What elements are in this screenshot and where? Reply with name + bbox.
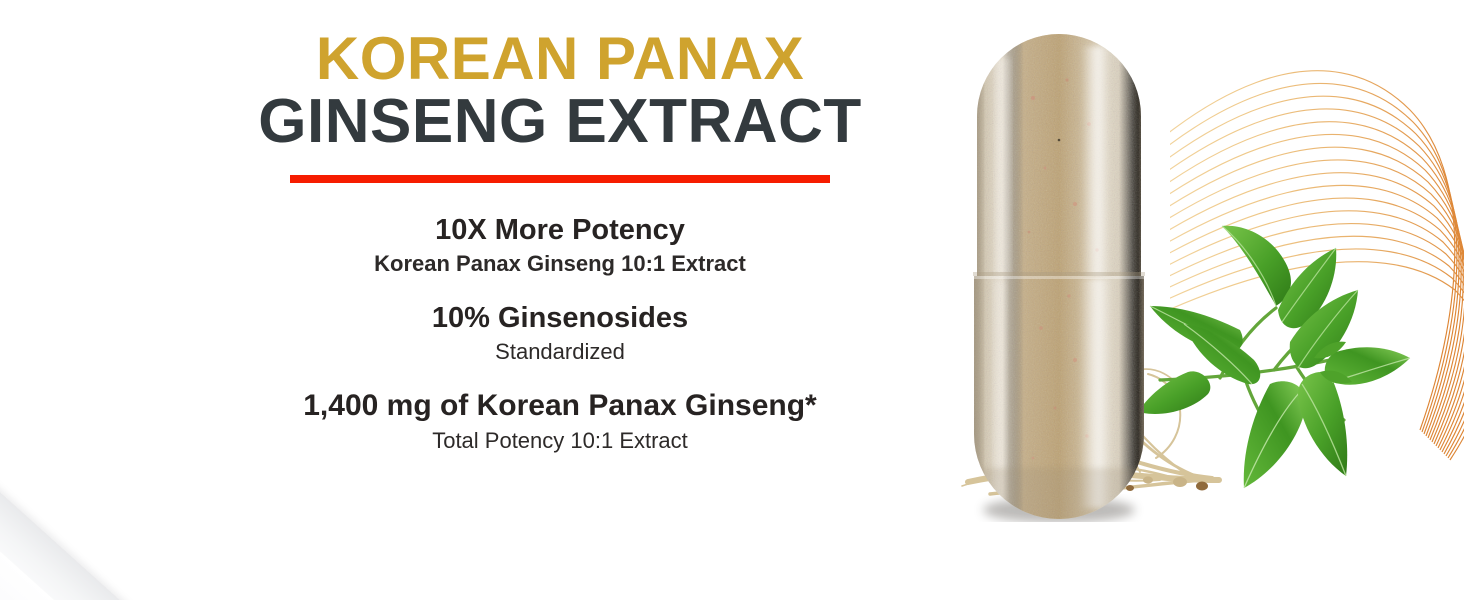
- headline-line-1: KOREAN PANAX: [150, 30, 970, 89]
- claim-heading: 10X More Potency: [150, 213, 970, 247]
- ginseng-leaves: [1124, 210, 1424, 510]
- product-imagery: [944, 0, 1464, 600]
- capsule-svg: [971, 28, 1147, 522]
- claim-subtext: Total Potency 10:1 Extract: [150, 427, 970, 456]
- capsule-product-image: [974, 28, 1144, 508]
- claim-block: 10% Ginsenosides Standardized: [150, 301, 970, 367]
- product-banner: KOREAN PANAX GINSENG EXTRACT 10X More Po…: [0, 0, 1464, 600]
- claim-subtext: Korean Panax Ginseng 10:1 Extract: [150, 250, 970, 279]
- claim-heading: 10% Ginsenosides: [150, 301, 970, 335]
- claim-heading: 1,400 mg of Korean Panax Ginseng*: [150, 388, 970, 423]
- headline-underline-rule: [290, 175, 830, 183]
- claim-subtext: Standardized: [150, 338, 970, 367]
- claim-block: 1,400 mg of Korean Panax Ginseng* Total …: [150, 388, 970, 455]
- headline-line-2: GINSENG EXTRACT: [150, 91, 970, 153]
- claim-block: 10X More Potency Korean Panax Ginseng 10…: [150, 213, 970, 279]
- headline-and-claims: KOREAN PANAX GINSENG EXTRACT 10X More Po…: [150, 30, 970, 455]
